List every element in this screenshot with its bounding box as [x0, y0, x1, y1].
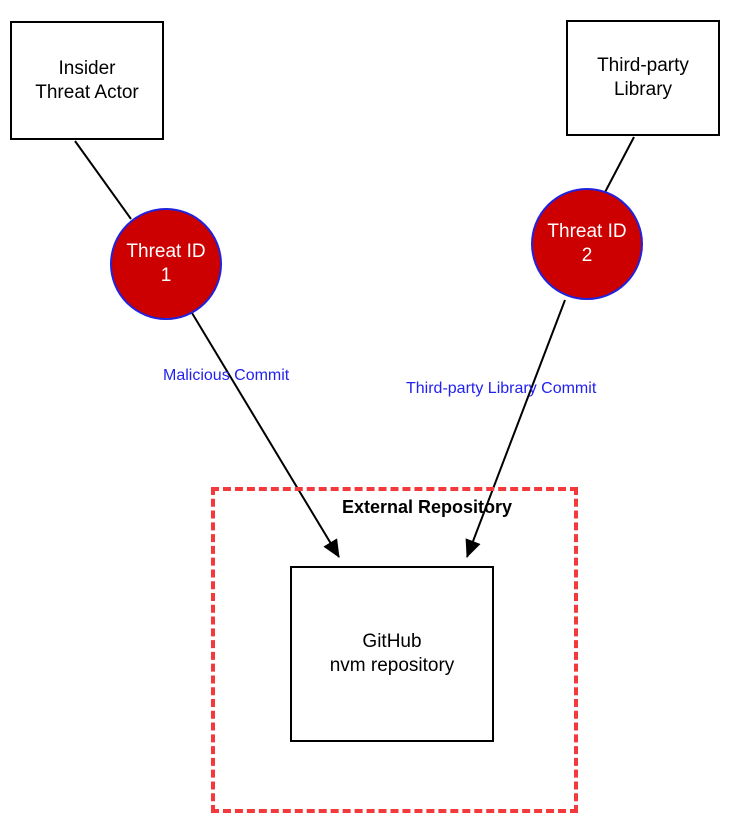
- node-third-party-library[interactable]: Third-party Library: [566, 20, 720, 136]
- node-threat-id-1[interactable]: Threat ID 1: [110, 208, 222, 320]
- edge-label-malicious-commit: Malicious Commit: [163, 366, 289, 386]
- edge-library-to-threat2: [603, 137, 634, 196]
- node-github-nvm-repository[interactable]: GitHub nvm repository: [290, 566, 494, 742]
- edge-label-third-party-library-commit: Third-party Library Commit: [406, 379, 596, 399]
- node-threat-id-2[interactable]: Threat ID 2: [531, 188, 643, 300]
- diagram-canvas: External Repository Insider Threat Actor…: [0, 0, 733, 830]
- edge-insider-to-threat1: [75, 141, 131, 219]
- node-insider-threat-actor[interactable]: Insider Threat Actor: [10, 21, 164, 140]
- boundary-label-external-repository: External Repository: [342, 496, 512, 518]
